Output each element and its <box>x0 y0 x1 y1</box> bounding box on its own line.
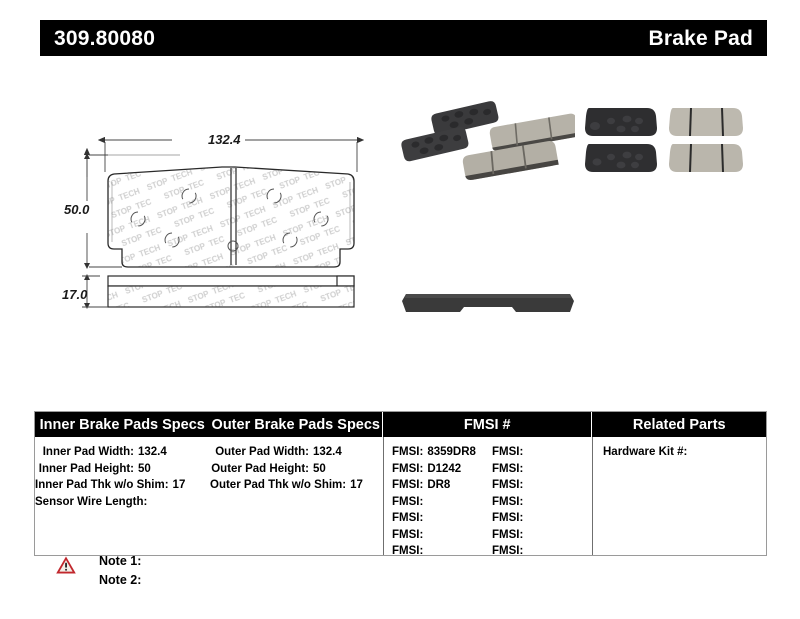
header-fmsi: FMSI # <box>383 412 591 437</box>
inner-pad-height-label: Inner Pad Height: <box>35 461 138 478</box>
inner-specs-cell: Inner Pad Width: 132.4 Inner Pad Height:… <box>35 437 210 555</box>
fmsi-row: FMSI: <box>492 543 592 560</box>
related-parts-cell: Hardware Kit #: <box>593 437 766 555</box>
fmsi-value: D1242 <box>427 463 461 475</box>
dimension-thickness-label: 17.0 <box>62 287 88 302</box>
fmsi-label: FMSI: <box>492 512 523 524</box>
fmsi-row: FMSI: <box>392 494 492 511</box>
fmsi-label: FMSI: <box>492 479 523 491</box>
fmsi-label: FMSI: <box>392 496 423 508</box>
fmsi-label: FMSI: <box>392 529 423 541</box>
sensor-wire-length-label: Sensor Wire Length: <box>35 494 151 511</box>
spec-row: Inner Pad Height: 50 <box>35 461 180 478</box>
fmsi-cell: FMSI:8359DR8 FMSI:D1242 FMSI:DR8 FMSI: F… <box>384 437 592 555</box>
fmsi-column-right: FMSI: FMSI: FMSI: FMSI: FMSI: <box>492 444 592 560</box>
outer-specs-cell: Outer Pad Width: 132.4 Outer Pad Height:… <box>210 437 383 555</box>
header-bar: 309.80080 Brake Pad <box>40 20 767 56</box>
brake-pad-set-angled-photo <box>400 96 575 184</box>
note-list: Note 1: Note 2: <box>99 552 141 590</box>
fmsi-row: FMSI:DR8 <box>392 477 492 494</box>
dimension-width-label: 132.4 <box>208 132 241 147</box>
outer-pad-thickness-label: Outer Pad Thk w/o Shim: <box>210 477 350 494</box>
fmsi-row: FMSI: <box>492 527 592 544</box>
fmsi-value: 8359DR8 <box>427 446 476 458</box>
spec-row: Outer Pad Height: 50 <box>210 461 355 478</box>
note-1: Note 1: <box>99 552 141 571</box>
outer-pad-width-label: Outer Pad Width: <box>210 444 313 461</box>
part-number: 309.80080 <box>54 28 155 49</box>
brake-pad-set-front-photo <box>577 96 752 184</box>
fmsi-row: FMSI: <box>492 494 592 511</box>
outer-pad-height-label: Outer Pad Height: <box>210 461 313 478</box>
header-outer-brake-pads-specs: Outer Brake Pads Specs <box>210 412 383 437</box>
table-body-row: Inner Pad Width: 132.4 Inner Pad Height:… <box>35 437 766 555</box>
fmsi-label: FMSI: <box>392 446 423 458</box>
spec-row: Outer Pad Width: 132.4 <box>210 444 355 461</box>
fmsi-label: FMSI: <box>492 529 523 541</box>
inner-pad-thickness-label: Inner Pad Thk w/o Shim: <box>35 477 173 494</box>
note-2: Note 2: <box>99 571 141 590</box>
fmsi-label: FMSI: <box>392 545 423 557</box>
fmsi-row: FMSI: <box>392 543 492 560</box>
fmsi-label: FMSI: <box>392 479 423 491</box>
table-header-row: Inner Brake Pads Specs Outer Brake Pads … <box>35 412 766 437</box>
fmsi-label: FMSI: <box>392 512 423 524</box>
pad-face-view <box>108 167 354 267</box>
fmsi-label: FMSI: <box>492 446 523 458</box>
fmsi-label: FMSI: <box>392 463 423 475</box>
product-type-label: Brake Pad <box>648 28 753 49</box>
header-inner-brake-pads-specs: Inner Brake Pads Specs <box>35 412 210 437</box>
spec-row: Outer Pad Thk w/o Shim: 17 <box>210 477 355 494</box>
sensor-wire-length-value <box>151 494 180 511</box>
hardware-kit-row: Hardware Kit #: <box>603 444 766 461</box>
fmsi-label: FMSI: <box>492 496 523 508</box>
fmsi-value: DR8 <box>427 479 450 491</box>
fmsi-row: FMSI: <box>492 461 592 478</box>
inner-pad-height-value: 50 <box>138 461 180 478</box>
fmsi-row: FMSI:D1242 <box>392 461 492 478</box>
fmsi-row: FMSI: <box>392 527 492 544</box>
engineering-drawing: STOP TECH STOP TECH 132.4 <box>60 115 400 330</box>
brake-pad-edge-photo <box>398 276 578 326</box>
inner-pad-width-value: 132.4 <box>138 444 180 461</box>
outer-pad-height-value: 50 <box>313 461 355 478</box>
dimension-height-label: 50.0 <box>64 202 90 217</box>
outer-pad-thickness-value: 17 <box>350 477 363 494</box>
specifications-table: Inner Brake Pads Specs Outer Brake Pads … <box>34 411 767 556</box>
hardware-kit-label: Hardware Kit #: <box>603 446 687 458</box>
spec-row: Inner Pad Thk w/o Shim: 17 <box>35 477 180 494</box>
notes-section: Note 1: Note 2: <box>55 552 141 590</box>
spec-row: Sensor Wire Length: <box>35 494 180 511</box>
fmsi-label: FMSI: <box>492 463 523 475</box>
fmsi-row: FMSI: <box>392 510 492 527</box>
fmsi-row: FMSI: <box>492 510 592 527</box>
fmsi-row: FMSI: <box>492 444 592 461</box>
warning-triangle-icon <box>55 555 77 575</box>
pad-side-view <box>108 276 354 307</box>
fmsi-row: FMSI: <box>492 477 592 494</box>
fmsi-label: FMSI: <box>492 545 523 557</box>
header-related-parts: Related Parts <box>592 412 766 437</box>
inner-pad-thickness-value: 17 <box>173 477 186 494</box>
inner-pad-width-label: Inner Pad Width: <box>35 444 138 461</box>
fmsi-row: FMSI:8359DR8 <box>392 444 492 461</box>
outer-pad-width-value: 132.4 <box>313 444 355 461</box>
fmsi-column-left: FMSI:8359DR8 FMSI:D1242 FMSI:DR8 FMSI: F… <box>392 444 492 560</box>
spec-row: Inner Pad Width: 132.4 <box>35 444 180 461</box>
